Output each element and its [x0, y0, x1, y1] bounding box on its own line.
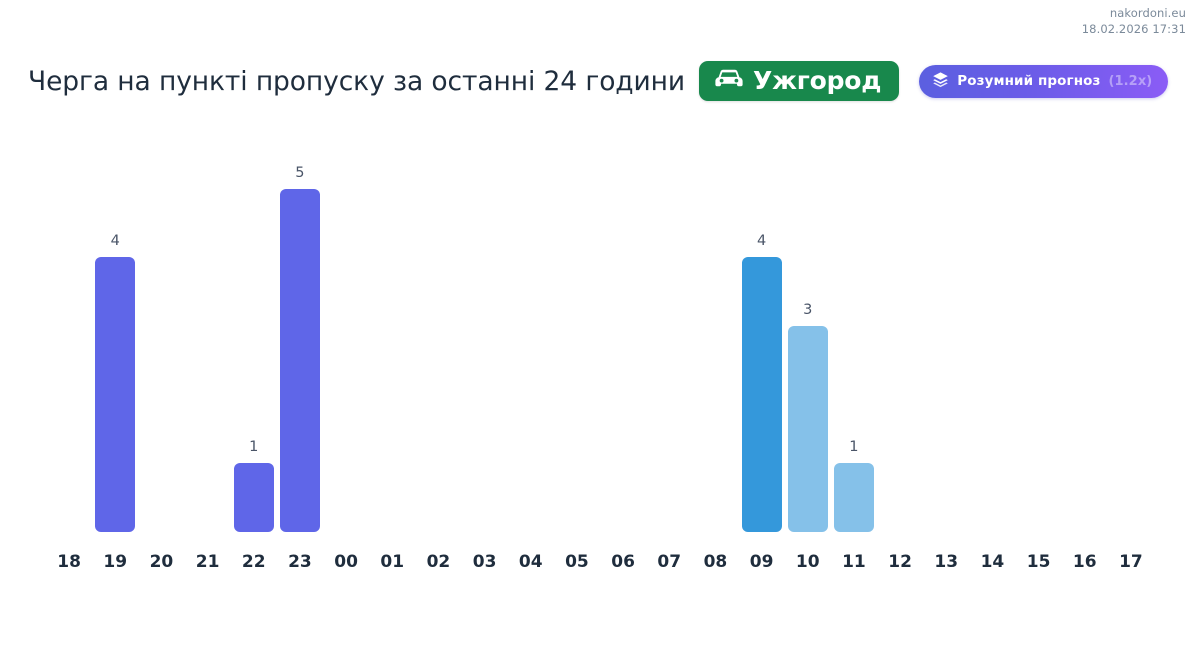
forecast-pill-label: Розумний прогноз: [957, 73, 1100, 89]
chart-column-13[interactable]: [923, 120, 969, 532]
x-axis-tick-01: 01: [369, 552, 415, 572]
x-axis-tick-06: 06: [600, 552, 646, 572]
x-axis-tick-07: 07: [646, 552, 692, 572]
x-axis-tick-10: 10: [785, 552, 831, 572]
chart-column-12[interactable]: [877, 120, 923, 532]
chart-column-09[interactable]: 4: [739, 120, 785, 532]
chart-column-22[interactable]: 1: [231, 120, 277, 532]
chart-bar[interactable]: [742, 257, 782, 532]
chart-bar-value: 5: [295, 165, 304, 181]
chart-bar[interactable]: [834, 463, 874, 532]
x-axis-tick-16: 16: [1062, 552, 1108, 572]
chart-bar-value: 1: [849, 439, 858, 455]
x-axis-tick-18: 18: [46, 552, 92, 572]
chart-x-axis: 1819202122230001020304050607080910111213…: [46, 552, 1154, 582]
x-axis-tick-05: 05: [554, 552, 600, 572]
x-axis-tick-15: 15: [1016, 552, 1062, 572]
meta-block: nakordoni.eu 18.02.2026 17:31: [1082, 6, 1186, 37]
chart-column-21[interactable]: [185, 120, 231, 532]
x-axis-tick-08: 08: [692, 552, 738, 572]
chart-column-06[interactable]: [600, 120, 646, 532]
chart-column-23[interactable]: 5: [277, 120, 323, 532]
chart-column-05[interactable]: [554, 120, 600, 532]
point-badge-label: Ужгород: [753, 68, 881, 93]
x-axis-tick-23: 23: [277, 552, 323, 572]
chart-bar-value: 4: [757, 233, 766, 249]
chart-column-04[interactable]: [508, 120, 554, 532]
chart-column-07[interactable]: [646, 120, 692, 532]
chart-column-00[interactable]: [323, 120, 369, 532]
x-axis-tick-21: 21: [185, 552, 231, 572]
x-axis-tick-00: 00: [323, 552, 369, 572]
chart-column-17[interactable]: [1108, 120, 1154, 532]
x-axis-tick-04: 04: [508, 552, 554, 572]
point-badge[interactable]: Ужгород: [699, 61, 899, 101]
x-axis-tick-14: 14: [969, 552, 1015, 572]
x-axis-tick-12: 12: [877, 552, 923, 572]
queue-bar-chart: 415431 181920212223000102030405060708091…: [0, 120, 1200, 620]
chart-bar-value: 4: [111, 233, 120, 249]
forecast-pill[interactable]: Розумний прогноз (1.2x): [919, 65, 1168, 98]
chart-column-02[interactable]: [415, 120, 461, 532]
x-axis-tick-17: 17: [1108, 552, 1154, 572]
chart-column-20[interactable]: [138, 120, 184, 532]
chart-column-18[interactable]: [46, 120, 92, 532]
chart-column-03[interactable]: [462, 120, 508, 532]
timestamp: 18.02.2026 17:31: [1082, 22, 1186, 38]
x-axis-tick-22: 22: [231, 552, 277, 572]
x-axis-tick-02: 02: [415, 552, 461, 572]
x-axis-tick-09: 09: [739, 552, 785, 572]
chart-column-01[interactable]: [369, 120, 415, 532]
x-axis-tick-20: 20: [138, 552, 184, 572]
chart-bar[interactable]: [95, 257, 135, 532]
chart-column-11[interactable]: 1: [831, 120, 877, 532]
chart-bar[interactable]: [280, 189, 320, 532]
chart-column-14[interactable]: [969, 120, 1015, 532]
chart-column-16[interactable]: [1062, 120, 1108, 532]
site-name: nakordoni.eu: [1082, 6, 1186, 22]
chart-column-10[interactable]: 3: [785, 120, 831, 532]
x-axis-tick-03: 03: [462, 552, 508, 572]
forecast-multiplier: (1.2x): [1108, 74, 1152, 89]
layers-icon: [932, 71, 949, 92]
chart-bar[interactable]: [788, 326, 828, 532]
x-axis-tick-19: 19: [92, 552, 138, 572]
chart-bar-value: 1: [249, 439, 258, 455]
x-axis-tick-11: 11: [831, 552, 877, 572]
chart-column-08[interactable]: [692, 120, 738, 532]
page-title: Черга на пункті пропуску за останні 24 г…: [28, 66, 685, 97]
car-icon: [714, 68, 744, 93]
chart-bar[interactable]: [234, 463, 274, 532]
chart-column-15[interactable]: [1016, 120, 1062, 532]
x-axis-tick-13: 13: [923, 552, 969, 572]
header: Черга на пункті пропуску за останні 24 г…: [28, 57, 1180, 105]
chart-plot-area: 415431: [46, 120, 1154, 532]
chart-column-19[interactable]: 4: [92, 120, 138, 532]
chart-bar-value: 3: [803, 302, 812, 318]
